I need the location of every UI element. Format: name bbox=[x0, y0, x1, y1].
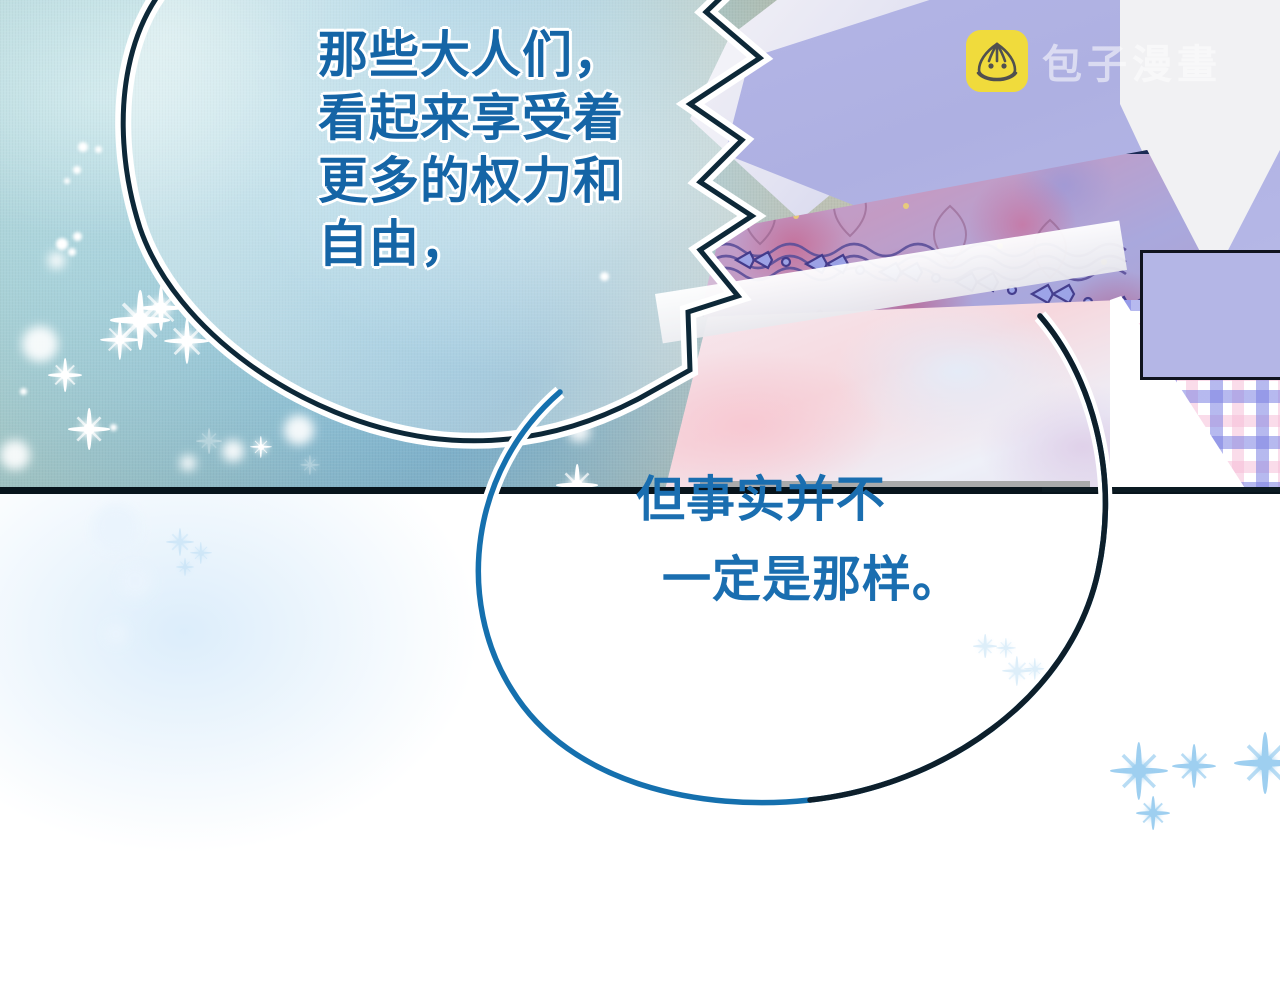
comic-page: 那些大人们， 看起来享受着 更多的权力和 自由， 包子漫畫 bbox=[0, 0, 1280, 1000]
speech-bubble-2-text: 但事实并不一定是那样。 bbox=[636, 460, 1036, 620]
speech-bubble-2-line1: 但事实并不 bbox=[636, 473, 886, 527]
speech-bubble-2-line2: 一定是那样。 bbox=[636, 540, 1036, 620]
